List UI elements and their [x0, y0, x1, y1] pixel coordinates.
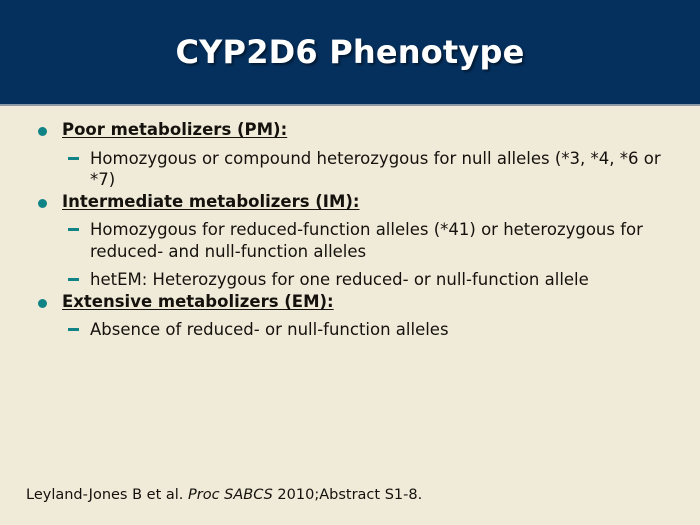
level1-bullet: Intermediate metabolizers (IM):	[28, 192, 672, 213]
dash-icon	[68, 157, 79, 160]
citation-journal: Proc SABCS	[188, 487, 273, 503]
dash-icon	[68, 278, 79, 281]
slide-body: Poor metabolizers (PM): Homozygous or co…	[0, 106, 700, 466]
level2-bullet-label: Homozygous or compound heterozygous for …	[90, 149, 661, 189]
dash-icon	[68, 328, 79, 331]
slide: CYP2D6 Phenotype Poor metabolizers (PM):…	[0, 0, 700, 525]
level2-bullet-label: Absence of reduced- or null-function all…	[90, 320, 449, 339]
bullet-group-extensive-metabolizers: Extensive metabolizers (EM): Absence of …	[28, 292, 672, 341]
bullet-dot-icon	[38, 127, 47, 136]
bullet-group-poor-metabolizers: Poor metabolizers (PM): Homozygous or co…	[28, 120, 672, 190]
bullet-dot-icon	[38, 199, 47, 208]
level1-bullet-label: Intermediate metabolizers (IM):	[62, 192, 360, 211]
bullet-dot-icon	[38, 299, 47, 308]
level1-bullet-label: Extensive metabolizers (EM):	[62, 292, 334, 311]
citation-footer: Leyland-Jones B et al. Proc SABCS 2010;A…	[26, 487, 422, 503]
dash-icon	[68, 228, 79, 231]
level2-bullet-label: Homozygous for reduced-function alleles …	[90, 220, 643, 260]
citation-reference: 2010;Abstract S1-8.	[273, 487, 422, 503]
level1-bullet: Poor metabolizers (PM):	[28, 120, 672, 141]
citation-authors: Leyland-Jones B et al.	[26, 487, 188, 503]
level2-bullet: Homozygous or compound heterozygous for …	[28, 148, 672, 190]
level2-bullet: hetEM: Heterozygous for one reduced- or …	[28, 269, 672, 290]
level1-bullet: Extensive metabolizers (EM):	[28, 292, 672, 313]
level1-bullet-label: Poor metabolizers (PM):	[62, 120, 287, 139]
page-title: CYP2D6 Phenotype	[175, 33, 524, 71]
level2-bullet: Absence of reduced- or null-function all…	[28, 319, 672, 340]
level2-bullet-label: hetEM: Heterozygous for one reduced- or …	[90, 270, 589, 289]
title-banner: CYP2D6 Phenotype	[0, 0, 700, 106]
level2-bullet: Homozygous for reduced-function alleles …	[28, 219, 672, 261]
bullet-group-intermediate-metabolizers: Intermediate metabolizers (IM): Homozygo…	[28, 192, 672, 290]
